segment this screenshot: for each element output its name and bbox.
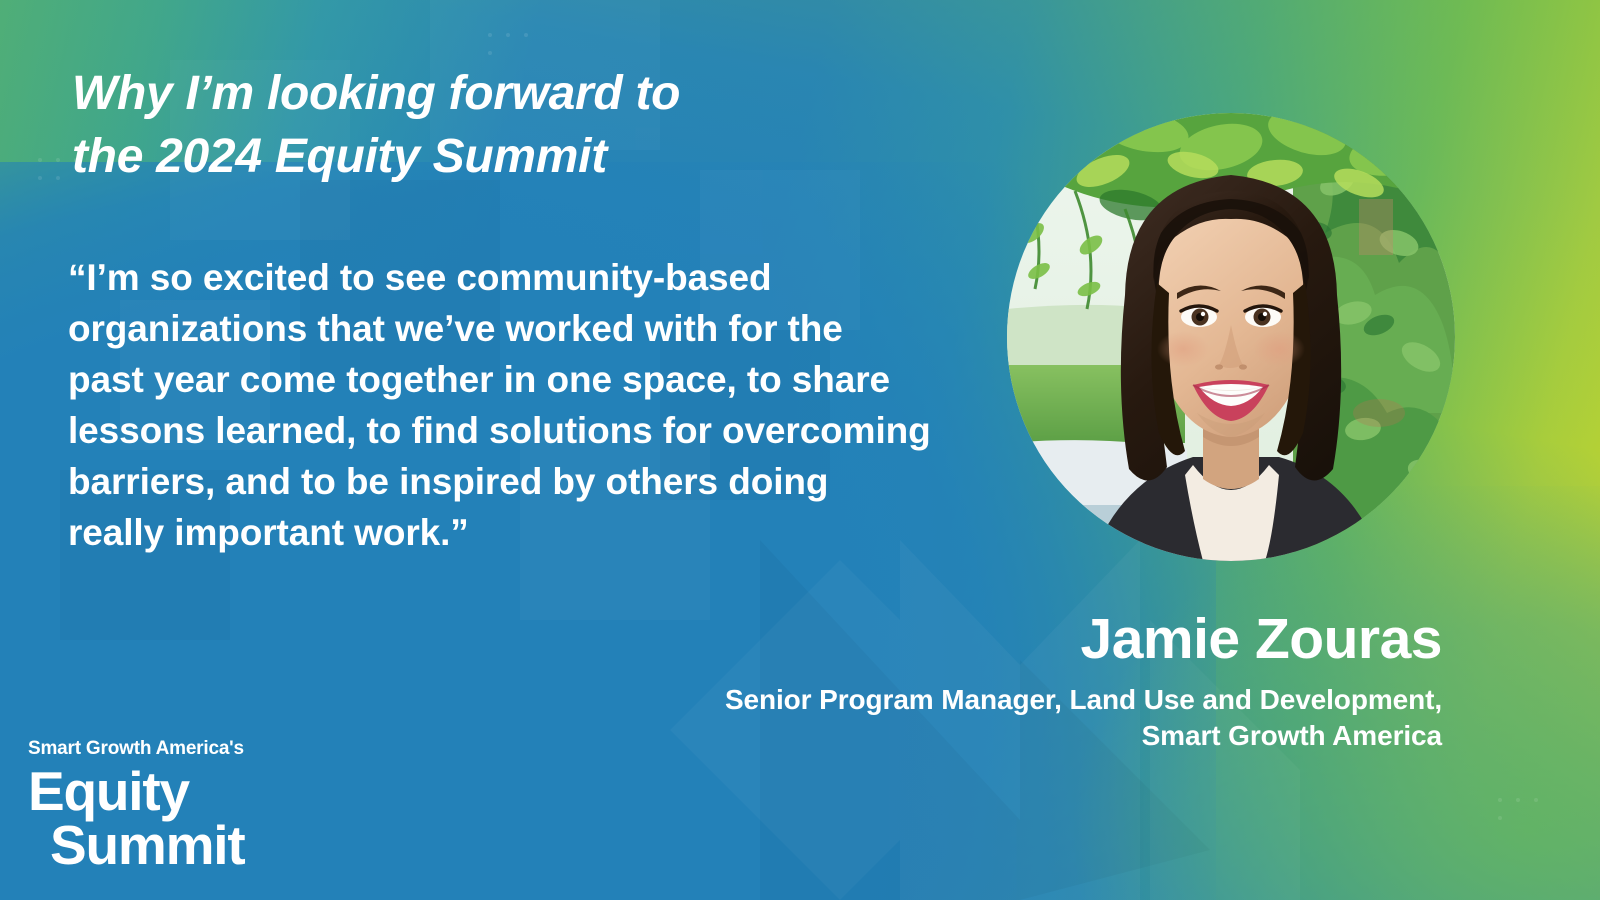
- speaker-quote-card: Why I’m looking forward to the 2024 Equi…: [0, 0, 1600, 900]
- quote-line-4: lessons learned, to find solutions for o…: [68, 405, 948, 456]
- speaker-title: Senior Program Manager, Land Use and Dev…: [542, 682, 1442, 754]
- page-title: Why I’m looking forward to the 2024 Equi…: [72, 62, 772, 189]
- logo-word-summit: Summit: [50, 819, 245, 872]
- quote-line-2: organizations that we’ve worked with for…: [68, 303, 948, 354]
- logo-kicker: Smart Growth America's: [28, 739, 245, 758]
- headline-line-1: Why I’m looking forward to: [72, 62, 772, 125]
- speaker-title-line-2: Smart Growth America: [542, 718, 1442, 754]
- equity-summit-logo: Smart Growth America's Equity Summit: [28, 739, 245, 872]
- speaker-name: Jamie Zouras: [542, 608, 1442, 672]
- speaker-title-line-1: Senior Program Manager, Land Use and Dev…: [542, 682, 1442, 718]
- speaker-attribution: Jamie Zouras Senior Program Manager, Lan…: [542, 608, 1442, 753]
- headline-line-2: the 2024 Equity Summit: [72, 125, 772, 188]
- quote-line-5: barriers, and to be inspired by others d…: [68, 456, 948, 507]
- quote-line-1: “I’m so excited to see community-based: [68, 252, 948, 303]
- quote-text: “I’m so excited to see community-based o…: [68, 252, 948, 558]
- logo-word-equity: Equity: [28, 765, 245, 818]
- quote-line-3: past year come together in one space, to…: [68, 354, 948, 405]
- quote-line-6: really important work.”: [68, 507, 948, 558]
- speaker-portrait-avatar: [1007, 113, 1455, 561]
